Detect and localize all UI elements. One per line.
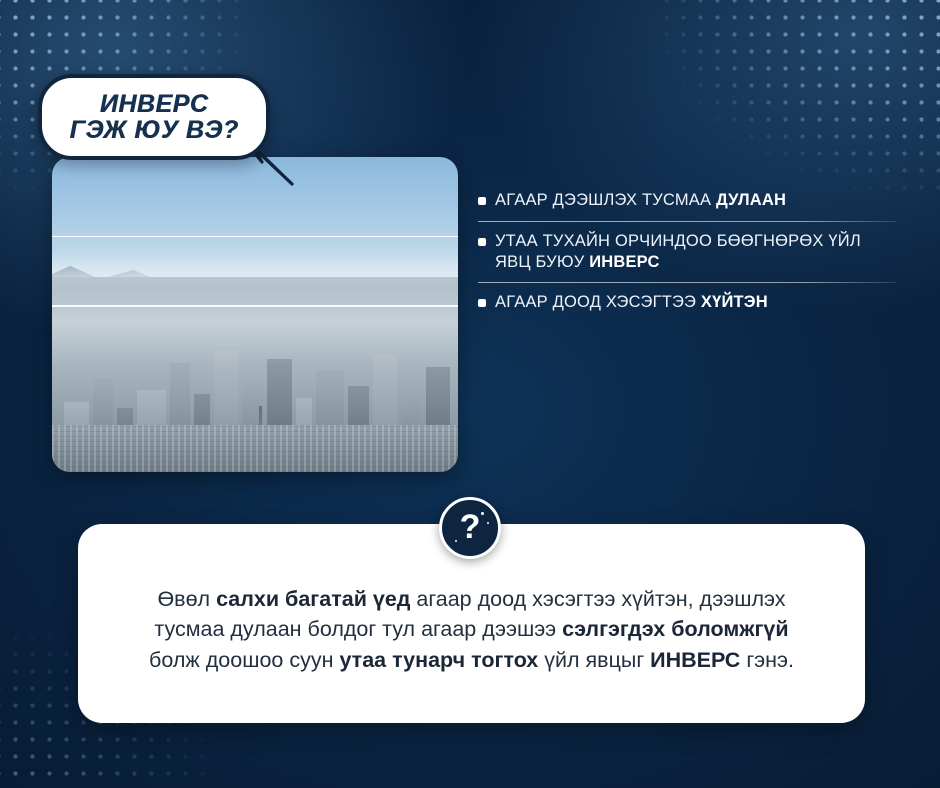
bubble-title-line2: ГЭЖ ЮУ ВЭ?	[69, 117, 238, 143]
square-bullet-icon	[478, 299, 486, 307]
fact-text-2: УТАА ТУХАЙН ОРЧИНДОО БӨӨГНӨРӨХ ҮЙЛ ЯВЦ Б…	[495, 231, 896, 273]
photo-smog-veil	[52, 157, 458, 472]
list-item: АГААР ДООД ХЭСЭГТЭЭ ХҮЙТЭН	[478, 283, 896, 323]
fact-list: АГААР ДЭЭШЛЭХ ТУСМАА ДУЛААН УТАА ТУХАЙН …	[478, 186, 896, 323]
square-bullet-icon	[478, 238, 486, 246]
speech-bubble: ИНВЕРС ГЭЖ ЮУ ВЭ?	[38, 74, 270, 160]
photo-divider-line-2	[52, 305, 458, 307]
photo-divider-line-1	[52, 236, 458, 238]
summary-paragraph: Өвөл салхи багатай үед агаар доод хэсэгт…	[78, 584, 865, 676]
list-item: АГААР ДЭЭШЛЭХ ТУСМАА ДУЛААН	[478, 186, 896, 221]
list-item: УТАА ТУХАЙН ОРЧИНДОО БӨӨГНӨРӨХ ҮЙЛ ЯВЦ Б…	[478, 222, 896, 283]
fact-text-1: АГААР ДЭЭШЛЭХ ТУСМАА ДУЛААН	[495, 190, 786, 211]
square-bullet-icon	[478, 197, 486, 205]
bubble-title-line1: ИНВЕРС	[100, 91, 209, 117]
fact-text-3: АГААР ДООД ХЭСЭГТЭЭ ХҮЙТЭН	[495, 292, 768, 313]
question-mark-icon: ?	[460, 510, 481, 544]
city-smog-photo	[52, 157, 458, 472]
question-mark-badge: ?	[439, 497, 501, 559]
infographic-canvas: ИНВЕРС ГЭЖ ЮУ ВЭ? АГААР ДЭЭШЛЭХ ТУСМАА Д…	[0, 0, 940, 788]
